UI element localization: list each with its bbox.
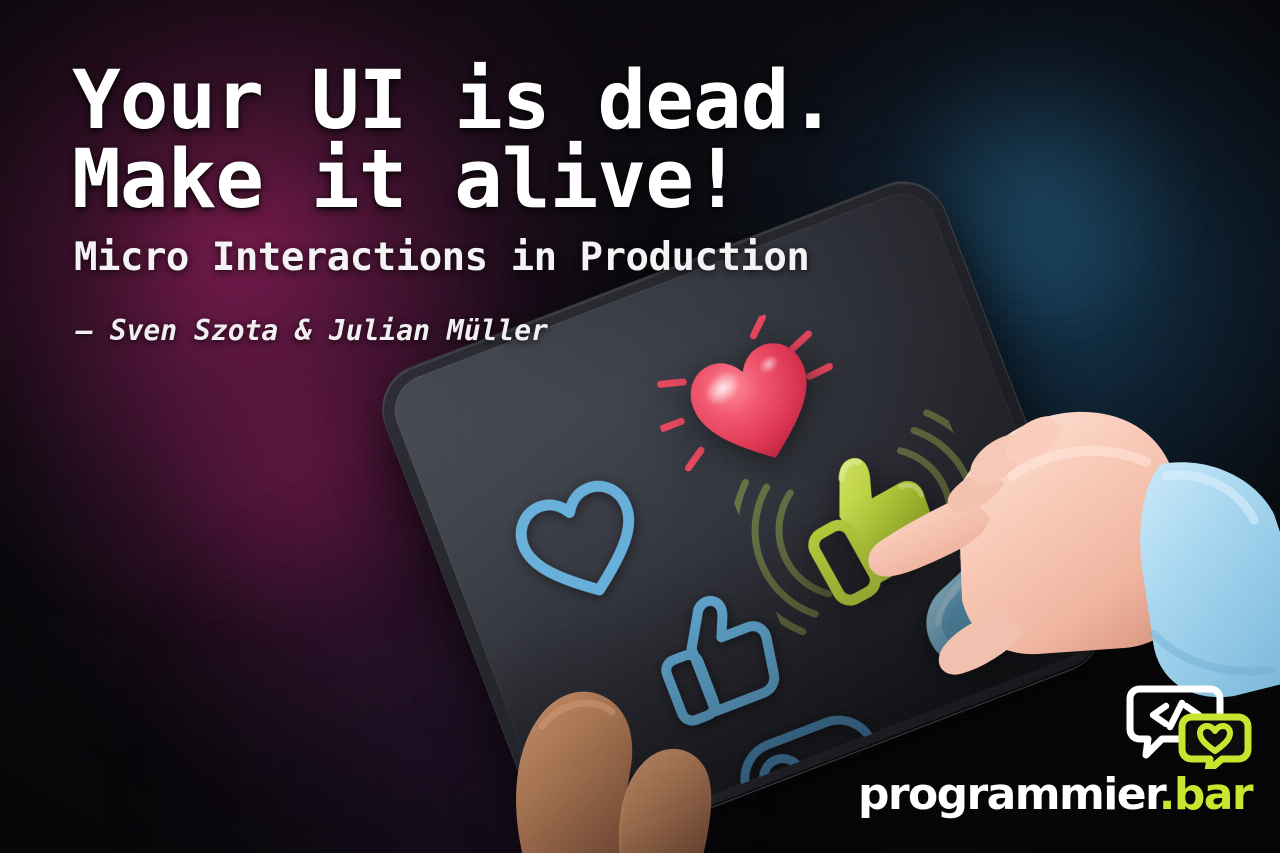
speaker-byline: – Sven Szota & Julian Müller — [76, 314, 1032, 347]
brand-logo[interactable]: programmier.bar — [858, 683, 1252, 817]
poster: Your UI is dead. Make it alive! Micro In… — [0, 0, 1280, 853]
wordmark-primary: programmier — [858, 769, 1159, 820]
logo-mark-icon — [1126, 683, 1252, 769]
text-block: Your UI is dead. Make it alive! Micro In… — [72, 62, 1032, 347]
headline-line-2: Make it alive! — [72, 141, 1032, 220]
subtitle: Micro Interactions in Production — [74, 235, 1032, 280]
brand-wordmark: programmier.bar — [858, 773, 1252, 817]
heart-outline-icon[interactable] — [498, 462, 664, 624]
wordmark-accent: .bar — [1159, 769, 1252, 820]
page-title: Your UI is dead. Make it alive! — [72, 62, 1032, 219]
